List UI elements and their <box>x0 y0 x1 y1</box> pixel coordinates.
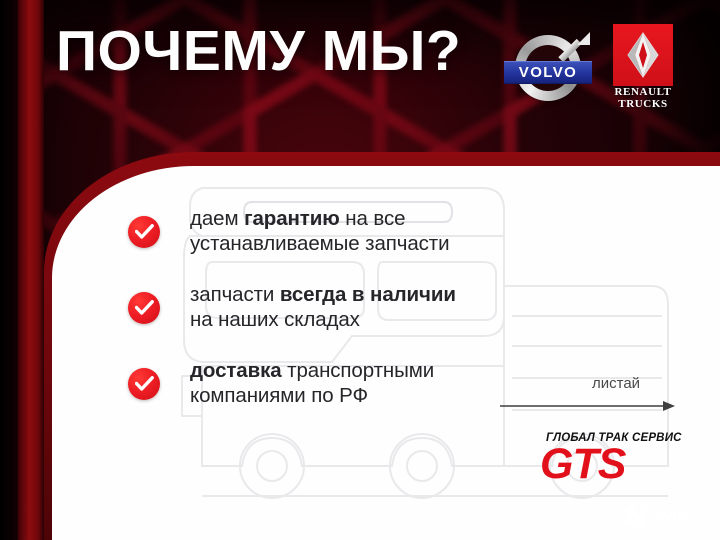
renault-trucks-logo: RENAULT TRUCKS <box>604 24 682 112</box>
benefit-2-part-2: всегда в наличии <box>280 283 456 306</box>
list-item: запчасти всегда в наличии на наших склад… <box>128 282 558 332</box>
benefit-1-part-3: на все <box>340 207 406 230</box>
avito-label: Avito <box>652 506 692 526</box>
check-circle-icon <box>128 292 160 324</box>
left-red-stripe <box>18 0 44 540</box>
arrow-right-icon <box>500 400 675 412</box>
list-item: доставка транспортными компаниями по РФ <box>128 358 558 408</box>
gts-logo: ГЛОБАЛ ТРАК СЕРВИС GTS <box>540 432 690 490</box>
page-title: ПОЧЕМУ МЫ? <box>56 23 461 80</box>
benefit-1-part-1: даем <box>190 207 244 230</box>
list-item: даем гарантию на все устанавливаемые зап… <box>128 206 558 256</box>
check-circle-icon <box>128 368 160 400</box>
renault-line2: TRUCKS <box>604 98 682 110</box>
avito-watermark: Avito <box>624 505 710 529</box>
swipe-label: листай <box>592 375 640 392</box>
left-edge-shadow <box>0 0 20 540</box>
benefits-list: даем гарантию на все устанавливаемые зап… <box>128 206 558 434</box>
volvo-wordmark: VOLVO <box>519 64 577 81</box>
avito-dots-icon <box>624 505 650 527</box>
benefit-3-line-2: компаниями по РФ <box>190 384 368 407</box>
benefit-1-line-2: устанавливаемые запчасти <box>190 232 449 255</box>
benefit-2-line-2: на наших складах <box>190 308 360 331</box>
promo-slide: ПОЧЕМУ МЫ? VOLVO RENAULT TRUCKS <box>0 0 720 540</box>
renault-line1: RENAULT <box>604 86 682 98</box>
benefit-text: даем гарантию на все устанавливаемые зап… <box>190 206 558 256</box>
benefit-2-part-1: запчасти <box>190 283 280 306</box>
benefit-3-part-2: транспортными <box>282 359 435 382</box>
benefit-text: запчасти всегда в наличии на наших склад… <box>190 282 558 332</box>
gts-wordmark: GTS <box>540 441 690 487</box>
renault-diamond-icon <box>620 31 666 79</box>
volvo-arrow-icon <box>563 33 589 59</box>
volvo-logo: VOLVO <box>503 23 593 113</box>
benefit-3-part-1: доставка <box>190 359 282 382</box>
benefit-1-part-2: гарантию <box>244 207 340 230</box>
volvo-wordmark-banner: VOLVO <box>504 61 592 84</box>
renault-trucks-wordmark: RENAULT TRUCKS <box>604 86 682 110</box>
check-circle-icon <box>128 216 160 248</box>
